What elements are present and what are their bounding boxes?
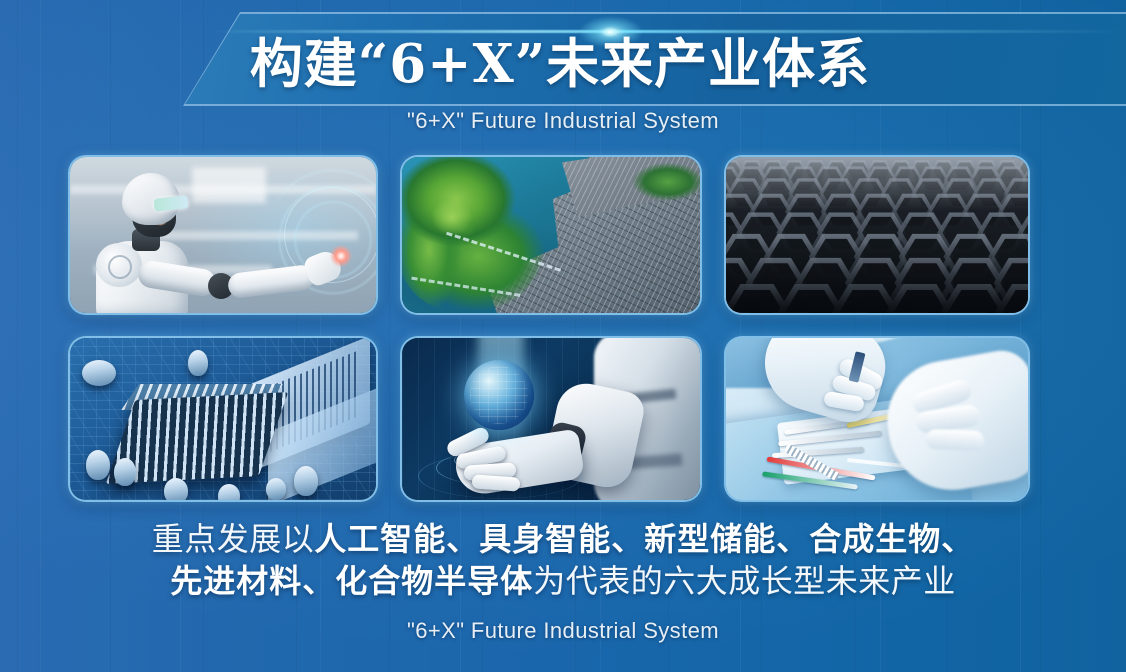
tile-semiconductors[interactable] [68, 336, 378, 502]
lab-gloves-icon [726, 338, 1028, 500]
footer-line1-prefix: 重点发展以 [152, 521, 315, 557]
footer-line2-suffix: 为代表的六大成长型未来产业 [533, 563, 956, 599]
circuit-board-icon [70, 338, 376, 500]
industry-image-grid [0, 150, 1126, 512]
graphene-lattice-icon [726, 157, 1028, 313]
footer-subtitle: "6+X" Future Industrial System [0, 618, 1126, 644]
footer-lead-text: 重点发展以人工智能、具身智能、新型储能、合成生物、 先进材料、化合物半导体为代表… [0, 518, 1126, 602]
tile-synthetic-bio[interactable] [724, 336, 1030, 502]
tile-ai[interactable] [68, 155, 378, 315]
footer-line1-highlight: 人工智能、具身智能、新型储能、合成生物、 [314, 521, 974, 557]
page-subtitle: "6+X" Future Industrial System [0, 108, 1126, 134]
poster-root: 构建“6+X”未来产业体系 "6+X" Future Industrial Sy… [0, 0, 1126, 672]
humanoid-robot-icon [70, 157, 376, 313]
tile-energy-storage[interactable] [400, 155, 702, 315]
floating-solar-farm-icon [402, 157, 700, 313]
tile-advanced-materials[interactable] [724, 155, 1030, 315]
tile-embodied-ai[interactable] [400, 336, 702, 502]
footer-block: 重点发展以人工智能、具身智能、新型储能、合成生物、 先进材料、化合物半导体为代表… [0, 518, 1126, 672]
robot-hand-globe-icon [402, 338, 700, 500]
page-title: 构建“6+X”未来产业体系 [0, 22, 1126, 98]
footer-line2-highlight: 先进材料、化合物半导体 [170, 563, 533, 599]
